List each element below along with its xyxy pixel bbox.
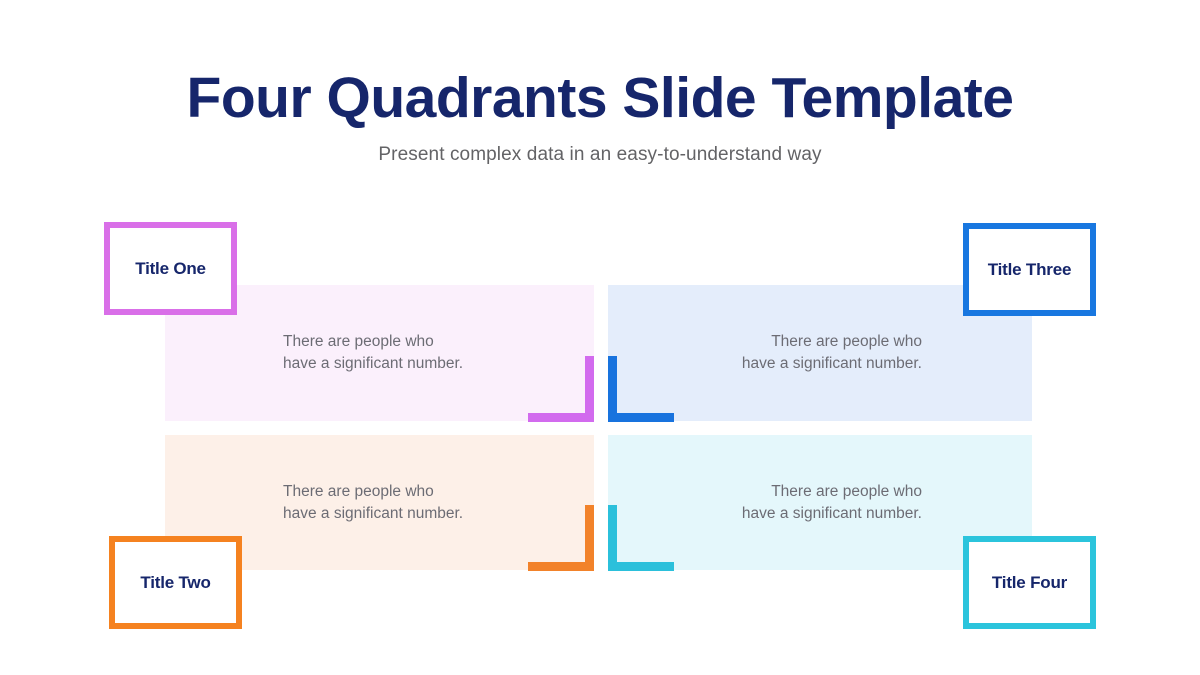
quadrant-title-box-one[interactable]: Title One [104, 222, 237, 315]
corner-bracket-icon-one [528, 356, 594, 422]
quadrant-title-label-three: Title Three [988, 260, 1071, 280]
quadrant-title-label-one: Title One [135, 259, 206, 279]
quadrant-title-label-four: Title Four [992, 573, 1067, 593]
slide-subtitle: Present complex data in an easy-to-under… [0, 144, 1200, 166]
corner-bracket-icon-four [608, 505, 674, 571]
corner-bracket-icon-two [528, 505, 594, 571]
quadrant-title-box-two[interactable]: Title Two [109, 536, 242, 629]
quadrant-title-label-two: Title Two [140, 573, 210, 593]
slide-title: Four Quadrants Slide Template [0, 66, 1200, 132]
slide-canvas: Four Quadrants Slide Template Present co… [0, 0, 1200, 675]
corner-bracket-icon-three [608, 356, 674, 422]
slide-header: Four Quadrants Slide Template Present co… [0, 66, 1200, 166]
quadrant-title-box-three[interactable]: Title Three [963, 223, 1096, 316]
quadrant-title-box-four[interactable]: Title Four [963, 536, 1096, 629]
